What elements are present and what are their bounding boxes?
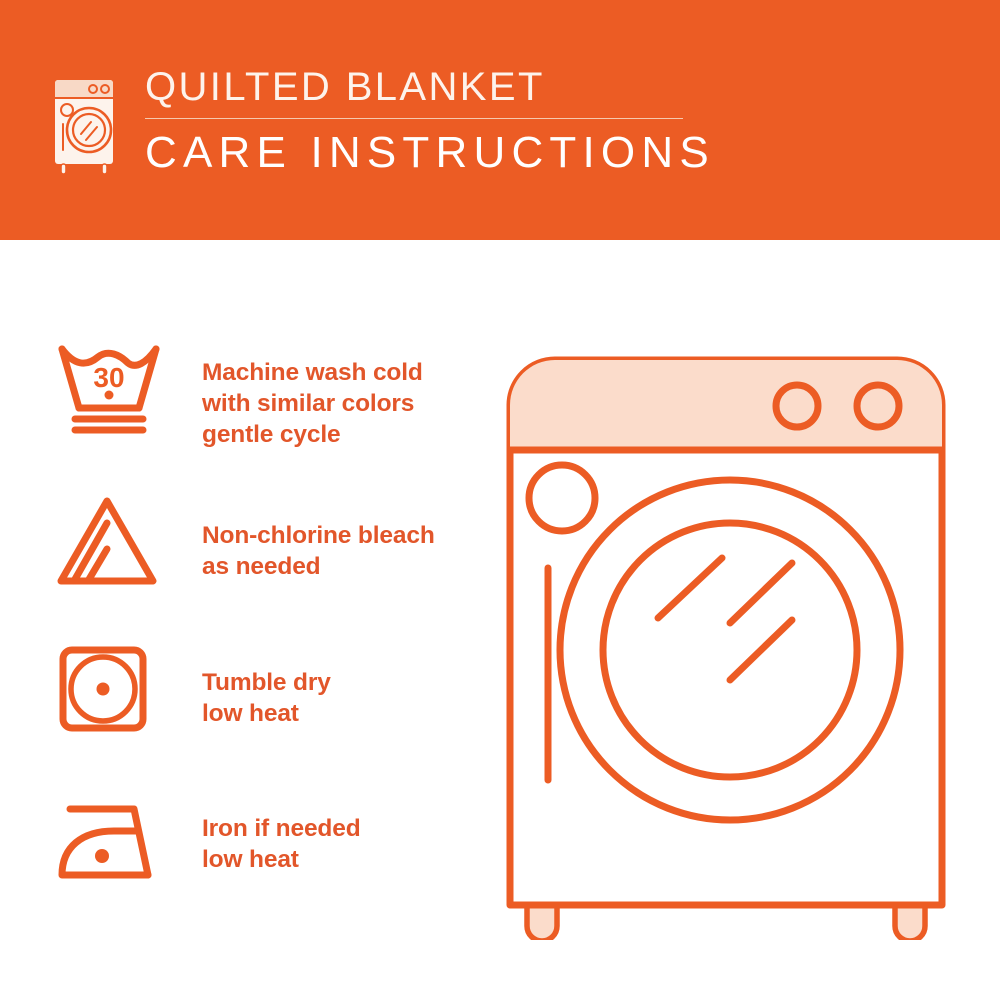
non-chlorine-bleach-icon [52, 485, 172, 590]
page-title: QUILTED BLANKET CARE INSTRUCTIONS [145, 62, 715, 178]
machine-control-panel [510, 360, 942, 450]
tumble-dry-low-heat-icon [52, 635, 172, 740]
care-row-bleach: Non-chlorine bleach as needed [52, 485, 472, 635]
care-text-line: low heat [202, 698, 472, 729]
care-instruction-list: 30 Machine wash cold with similar colors… [52, 335, 472, 935]
care-text-tumble-dry: Tumble dry low heat [172, 635, 472, 729]
title-divider [145, 118, 683, 119]
care-instructions-page: QUILTED BLANKET CARE INSTRUCTIONS [0, 0, 1000, 1000]
care-text-machine-wash: Machine wash cold with similar colors ge… [172, 335, 472, 450]
machine-wash-30-gentle-icon: 30 [52, 335, 172, 440]
header-banner: QUILTED BLANKET CARE INSTRUCTIONS [0, 0, 1000, 240]
care-row-machine-wash: 30 Machine wash cold with similar colors… [52, 335, 472, 485]
iron-low-heat-icon [52, 785, 172, 890]
wash-temperature-label: 30 [93, 362, 124, 393]
washing-machine-icon [45, 66, 123, 178]
header-content: QUILTED BLANKET CARE INSTRUCTIONS [45, 62, 715, 178]
title-care-instructions: CARE INSTRUCTIONS [145, 128, 715, 178]
care-text-line: with similar colors [202, 388, 472, 419]
title-product-name: QUILTED BLANKET [145, 64, 715, 110]
care-text-line: as needed [202, 551, 472, 582]
care-text-line: Non-chlorine bleach [202, 520, 472, 551]
care-text-line: Iron if needed [202, 813, 472, 844]
care-text-line: Tumble dry [202, 667, 472, 698]
care-text-line: low heat [202, 844, 472, 875]
care-text-iron: Iron if needed low heat [172, 785, 472, 875]
care-row-tumble-dry: Tumble dry low heat [52, 635, 472, 785]
front-load-washing-machine-illustration [490, 330, 970, 940]
care-text-bleach: Non-chlorine bleach as needed [172, 485, 472, 582]
care-text-line: gentle cycle [202, 419, 472, 450]
care-row-iron: Iron if needed low heat [52, 785, 472, 935]
care-text-line: Machine wash cold [202, 357, 472, 388]
